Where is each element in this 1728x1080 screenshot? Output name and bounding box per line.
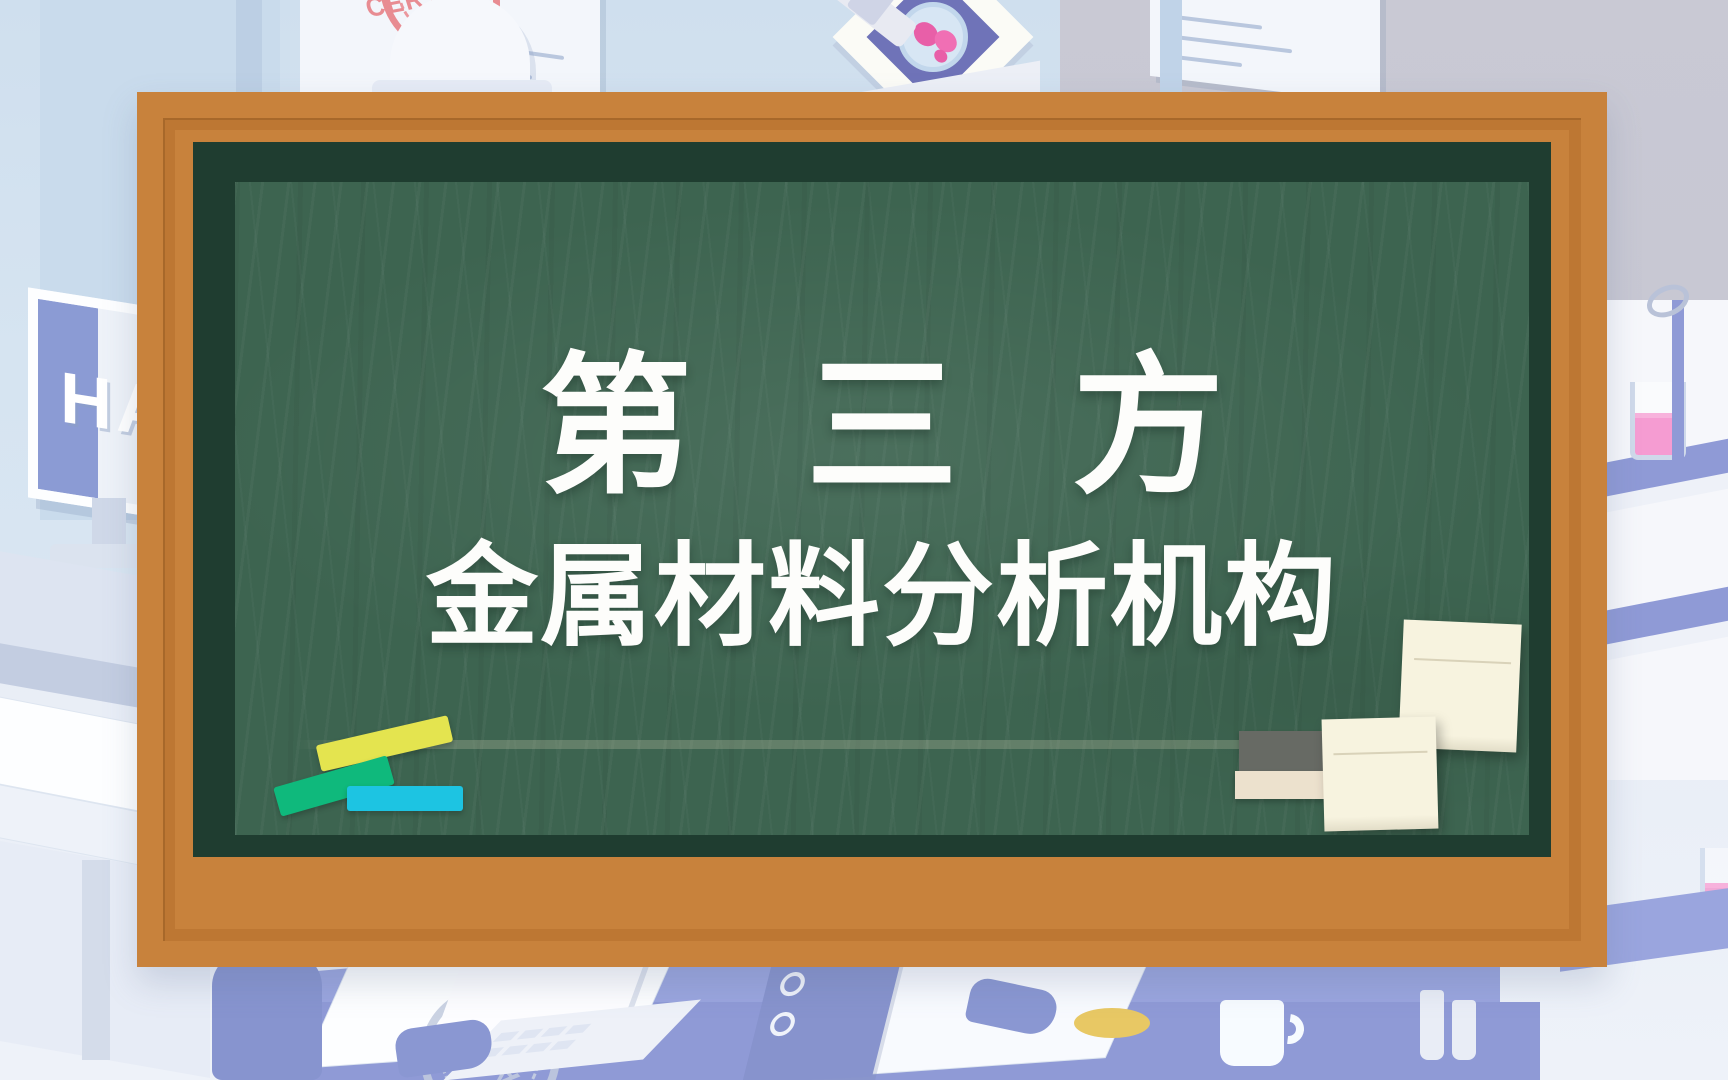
- board-title-block: 第 三 方 金属材料分析机构: [235, 350, 1529, 663]
- keycap: [517, 1029, 544, 1040]
- test-vial: [1420, 990, 1444, 1060]
- chalkboard-surface: 第 三 方 金属材料分析机构: [235, 182, 1529, 835]
- keycap: [501, 1045, 528, 1056]
- keycap: [541, 1026, 568, 1037]
- stand-rod: [1672, 300, 1684, 466]
- test-vial-2: [1452, 1000, 1476, 1060]
- cyan-chalk-stick[interactable]: [347, 786, 463, 811]
- page-title-secondary: 金属材料分析机构: [235, 531, 1529, 663]
- sample-dish: [1074, 1008, 1150, 1038]
- sticky-note-lower[interactable]: [1322, 717, 1439, 832]
- binder-ring-icon: [777, 971, 807, 996]
- sticky-note-curl: [1324, 814, 1438, 831]
- keycap: [565, 1024, 592, 1035]
- office-chair-back: [212, 952, 322, 1080]
- keycap: [493, 1031, 520, 1042]
- cabinet-shadow: [82, 860, 110, 1060]
- binder-ring-icon: [768, 1011, 798, 1036]
- sticky-note-crease: [1334, 750, 1428, 754]
- slide-canvas: CERTIFIED HA: [0, 0, 1728, 1080]
- keycap: [549, 1040, 576, 1051]
- chalkboard-bevel: 第 三 方 金属材料分析机构: [193, 142, 1551, 857]
- shelf-backing: [1600, 300, 1728, 780]
- page-title-primary: 第 三 方: [235, 350, 1529, 505]
- keycap: [525, 1042, 552, 1053]
- chalkboard-frame: 第 三 方 金属材料分析机构: [137, 92, 1607, 967]
